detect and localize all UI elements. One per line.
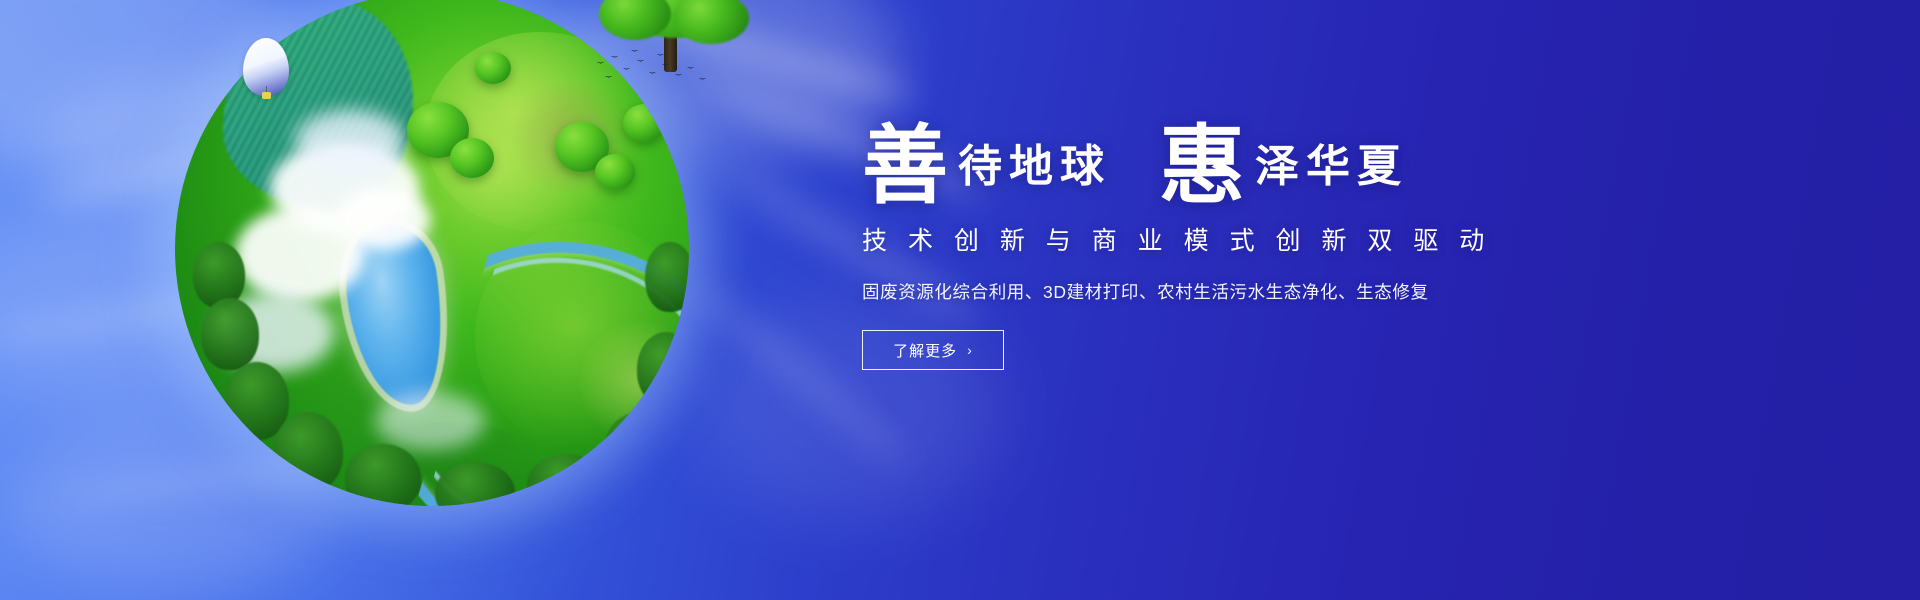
tree-canopy <box>475 52 511 84</box>
tree-canopy <box>623 104 665 142</box>
rim-tree <box>645 242 689 312</box>
tree-canopy <box>595 154 635 190</box>
rim-tree <box>193 242 245 308</box>
rim-tree <box>345 444 421 506</box>
surface-cloud <box>295 110 405 172</box>
subtitle: 技 术 创 新 与 商 业 模 式 创 新 双 驱 动 <box>862 221 1562 257</box>
tree-canopy <box>450 138 494 178</box>
learn-more-button[interactable]: 了解更多 › <box>862 330 1004 370</box>
headline-char-hui: 惠 <box>1159 126 1245 205</box>
description: 固废资源化综合利用、3D建材打印、农村生活污水生态净化、生态修复 <box>862 279 1562 304</box>
headline-text-daidiqiu: 待地球 <box>948 145 1111 199</box>
headline: 善 待地球 惠 泽华夏 <box>862 120 1562 199</box>
rim-tree <box>637 332 689 406</box>
rim-tree <box>201 298 259 370</box>
hot-air-balloon <box>243 38 289 96</box>
hero-banner: 善 待地球 惠 泽华夏 技 术 创 新 与 商 业 模 式 创 新 双 驱 动 … <box>0 0 1920 600</box>
chevron-right-icon: › <box>967 343 973 357</box>
headline-text-zehuaxia: 泽华夏 <box>1245 145 1408 199</box>
rim-tree <box>273 412 343 492</box>
surface-cloud <box>335 188 431 250</box>
learn-more-label: 了解更多 <box>893 340 957 361</box>
headline-char-shan: 善 <box>862 126 948 205</box>
surface-cloud <box>375 392 485 450</box>
rim-tree <box>605 412 675 482</box>
hero-copy: 善 待地球 惠 泽华夏 技 术 创 新 与 商 业 模 式 创 新 双 驱 动 … <box>862 120 1562 370</box>
